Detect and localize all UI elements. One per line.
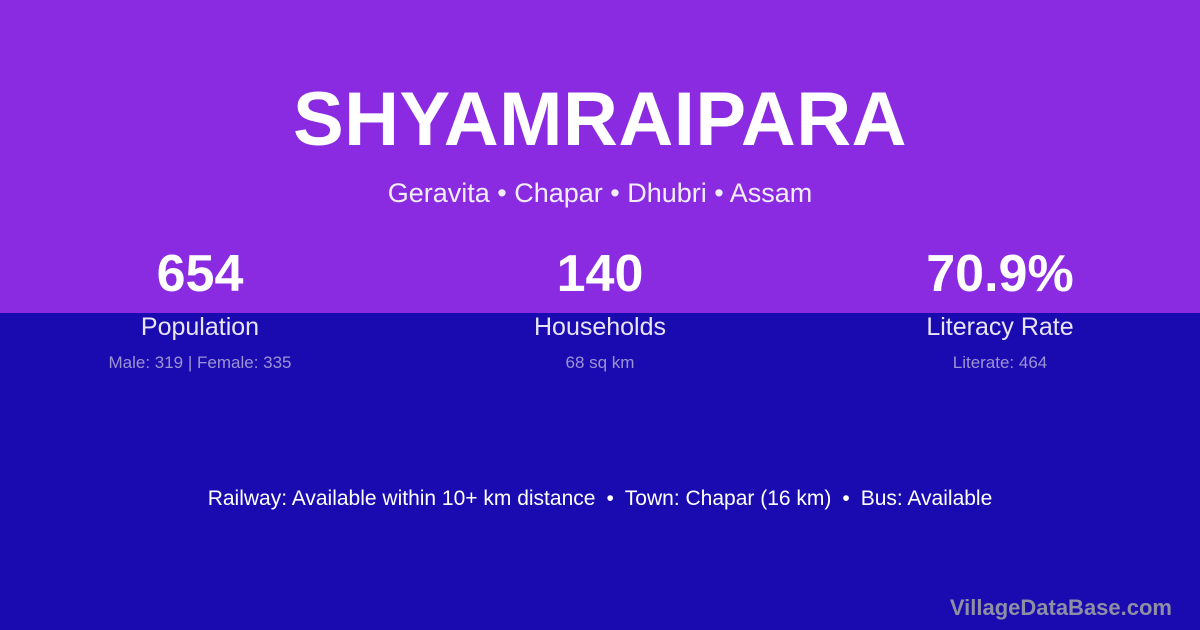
stat-literacy-label: Literacy Rate: [800, 313, 1200, 341]
stat-population: 654 Population Male: 319 | Female: 335: [0, 243, 400, 373]
facility-line: Railway: Available within 10+ km distanc…: [0, 484, 1200, 514]
stat-literacy-value: 70.9%: [800, 243, 1200, 305]
stat-population-label: Population: [0, 313, 400, 341]
stat-population-value: 654: [0, 243, 400, 305]
stat-households-sub: 68 sq km: [400, 353, 800, 373]
facility-bus: Bus: Available: [861, 487, 993, 510]
page-title: SHYAMRAIPARA: [0, 0, 1200, 158]
card-header: SHYAMRAIPARA Geravita • Chapar • Dhubri …: [0, 0, 1200, 207]
stat-households-label: Households: [400, 313, 800, 341]
stats-row: 654 Population Male: 319 | Female: 335 1…: [0, 243, 1200, 373]
stat-literacy-sub: Literate: 464: [800, 353, 1200, 373]
footer-brand-watermark: VillageDataBase.com: [950, 594, 1172, 622]
stat-households-value: 140: [400, 243, 800, 305]
facility-town: Town: Chapar (16 km): [625, 487, 832, 510]
facility-separator-1: •: [595, 484, 624, 514]
stat-literacy: 70.9% Literacy Rate Literate: 464: [800, 243, 1200, 373]
stat-households: 140 Households 68 sq km: [400, 243, 800, 373]
facility-separator-2: •: [831, 484, 860, 514]
breadcrumb: Geravita • Chapar • Dhubri • Assam: [0, 158, 1200, 207]
village-info-card: SHYAMRAIPARA Geravita • Chapar • Dhubri …: [0, 0, 1200, 630]
facility-railway: Railway: Available within 10+ km distanc…: [208, 487, 596, 510]
stat-population-sub: Male: 319 | Female: 335: [0, 353, 400, 373]
